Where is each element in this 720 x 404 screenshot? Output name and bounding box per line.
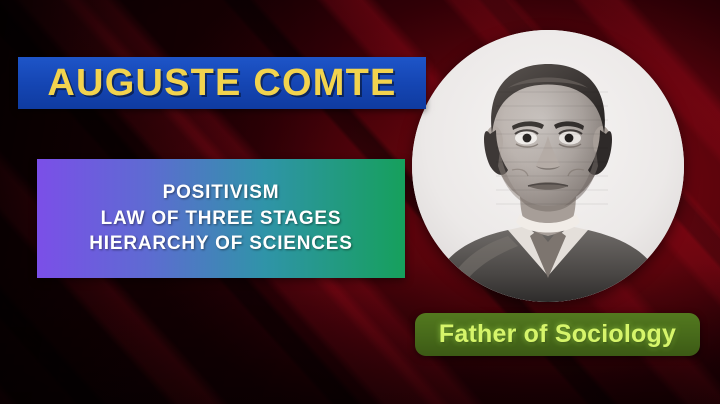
- concept-item: LAW OF THREE STAGES: [101, 208, 342, 230]
- page-title: AUGUSTE COMTE: [47, 64, 396, 102]
- concepts-panel: POSITIVISM LAW OF THREE STAGES HIERARCHY…: [37, 159, 405, 278]
- subtitle-badge: Father of Sociology: [415, 313, 700, 356]
- subtitle-label: Father of Sociology: [439, 322, 676, 347]
- auguste-comte-portrait: [412, 30, 684, 302]
- concept-item: HIERARCHY OF SCIENCES: [89, 233, 352, 255]
- title-banner: AUGUSTE COMTE: [18, 57, 426, 109]
- concept-item: POSITIVISM: [163, 182, 280, 204]
- slide-canvas: AUGUSTE COMTE POSITIVISM LAW OF THREE ST…: [0, 0, 720, 404]
